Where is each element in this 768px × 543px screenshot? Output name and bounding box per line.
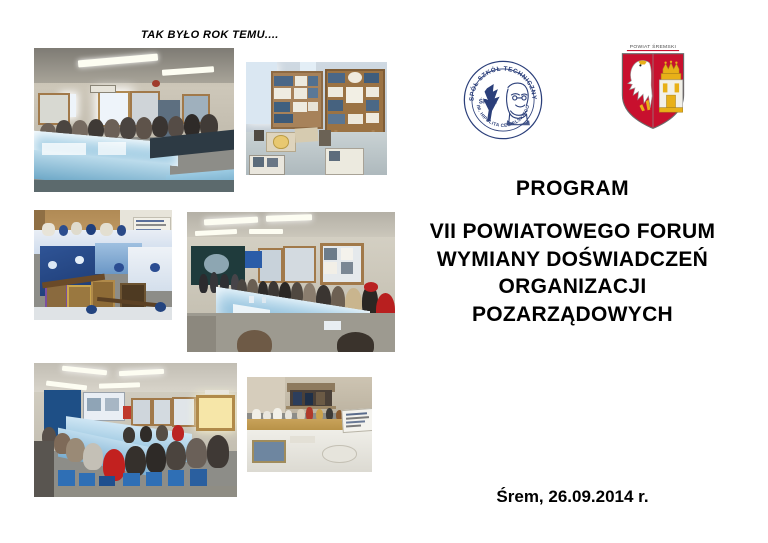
program-title-block: PROGRAM VII POWIATOWEGO FORUM WYMIANY DO…: [400, 178, 745, 329]
photo-blue-display-middle-left: [34, 210, 172, 320]
poster-page: TAK BYŁO ROK TEMU....: [0, 0, 768, 543]
school-seal-logo: ZESPÓŁ SZKÓŁ TECHNICZNYCH IM. HIPOLITA C…: [461, 58, 545, 142]
photo-audience-bottom-left: [34, 363, 237, 497]
photo-conference-room-top-left: [34, 48, 234, 192]
title-line-program: PROGRAM: [400, 178, 745, 200]
photo-exhibition-boards-top-right: [246, 62, 387, 175]
title-line-organizacji: ORGANIZACJI: [400, 273, 745, 301]
title-line-pozarzadowych: POZARZĄDOWYCH: [400, 301, 745, 329]
event-date-line: Śrem, 26.09.2014 r.: [400, 487, 745, 507]
crest-caption-text: POWIAT ŚREMSKI: [630, 42, 676, 50]
photo-handicraft-table-bottom-right: [247, 377, 372, 472]
title-line-forum: VII POWIATOWEGO FORUM: [400, 218, 745, 246]
powiat-sremski-crest: POWIAT ŚREMSKI: [610, 42, 696, 132]
photo-long-table-middle-right: [187, 212, 395, 352]
photos-caption: TAK BYŁO ROK TEMU....: [141, 29, 279, 41]
title-line-wymiany: WYMIANY DOŚWIADCZEŃ: [400, 246, 745, 274]
